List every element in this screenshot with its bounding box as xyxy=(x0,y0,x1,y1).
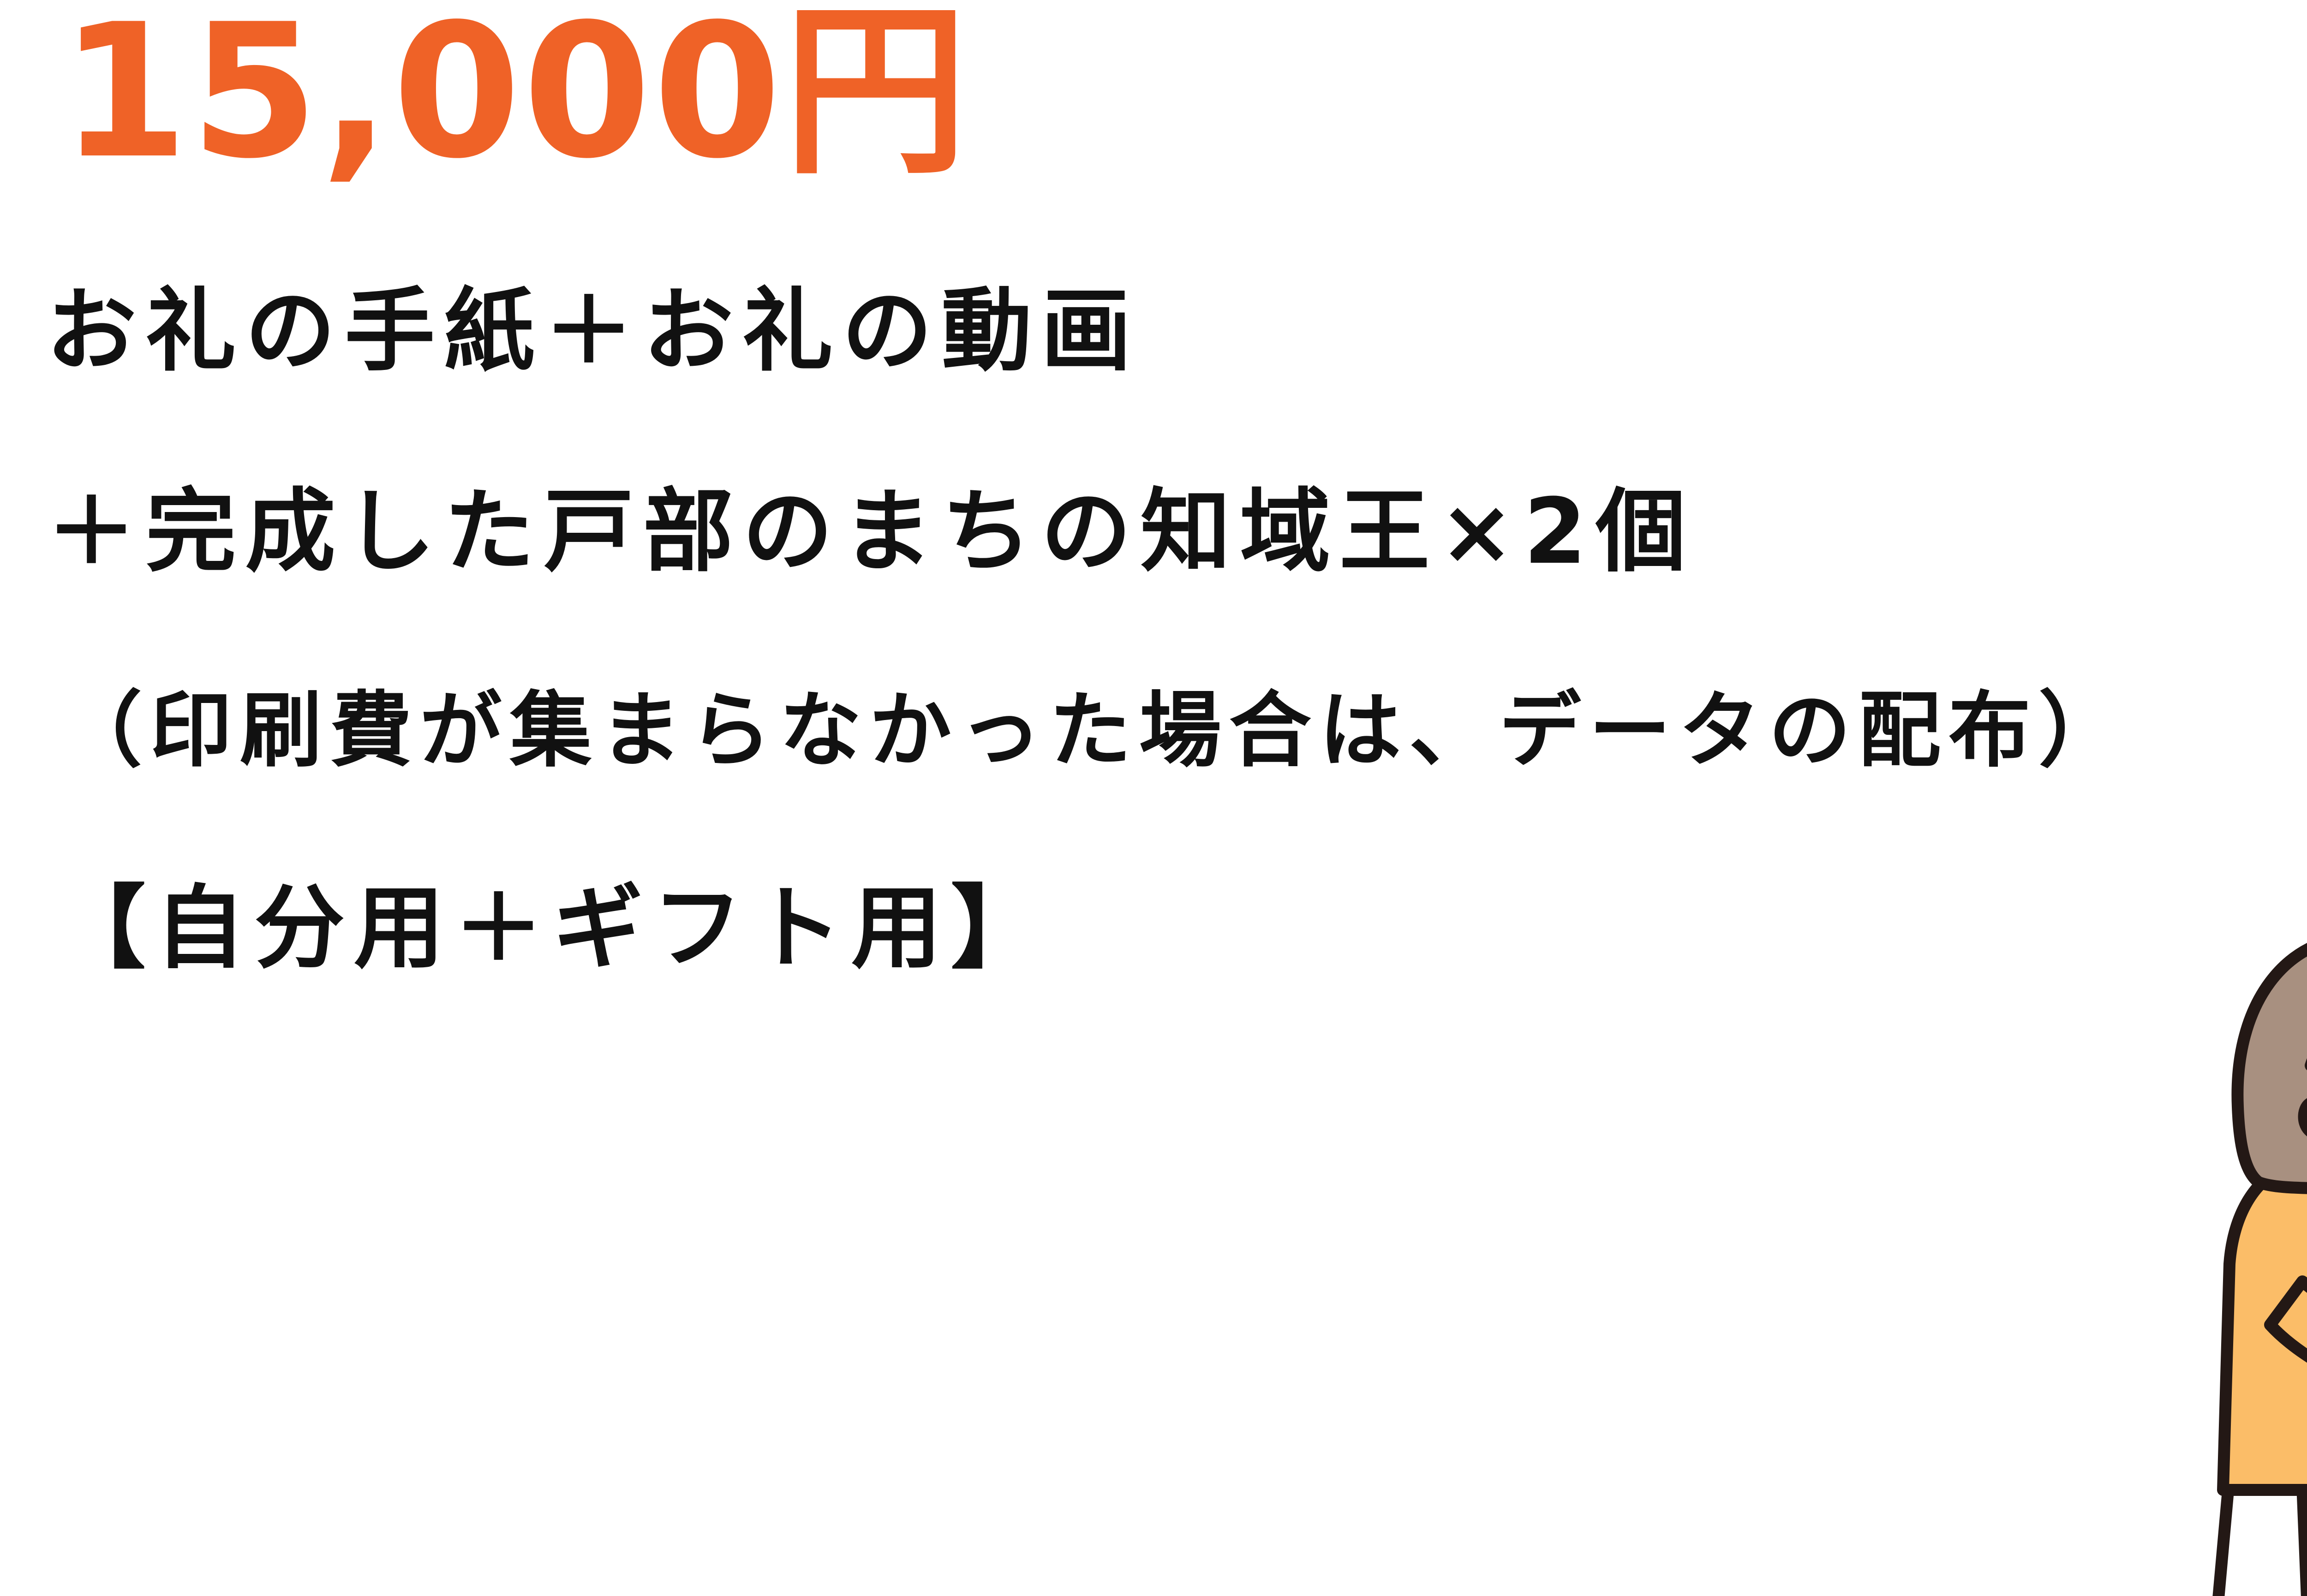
reward-description-line-1: お礼の手紙＋お礼の動画 xyxy=(46,286,1141,376)
reward-note-line-3: （印刷費が集まらなかった場合は、データの配布） xyxy=(60,690,2128,772)
left-woman-hair xyxy=(2237,937,2307,1191)
reward-usage-line-4: 【自分用＋ギフト用】 xyxy=(55,883,1050,974)
left-woman-skirt xyxy=(2218,1485,2307,1596)
price-headline: 15,000円 xyxy=(60,0,970,198)
gift-exchange-svg xyxy=(2164,849,2307,1596)
reward-description-line-2: ＋完成した戸部のまちの知域王×2個 xyxy=(46,487,1695,577)
gift-exchange-illustration xyxy=(2164,849,2307,1596)
